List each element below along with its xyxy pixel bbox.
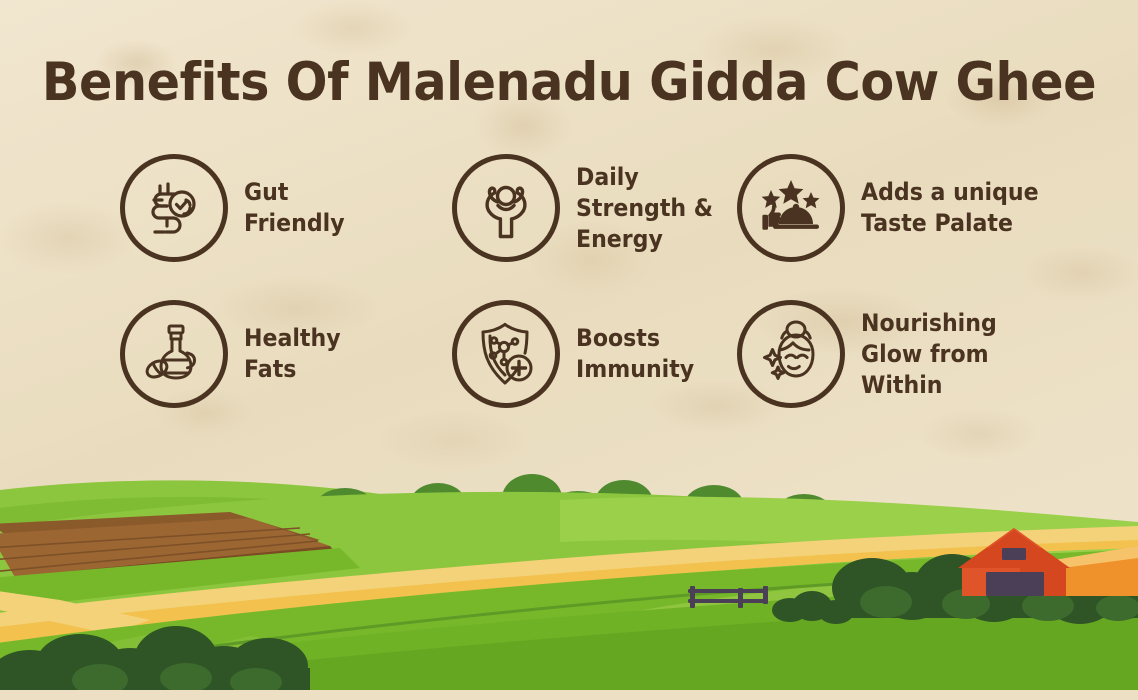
strong-person-icon <box>471 175 541 241</box>
benefit-item-healthy-fats[interactable]: Healthy Fats <box>120 300 349 408</box>
farm-landscape-illustration <box>0 468 1138 700</box>
benefit-item-boosts-immunity[interactable]: Boosts Immunity <box>452 300 704 408</box>
benefit-label: Boosts Immunity <box>576 323 694 385</box>
benefit-icon-badge <box>737 300 845 408</box>
benefit-icon-badge <box>120 300 228 408</box>
barn-loft-window <box>1002 548 1026 560</box>
thumbs-up-cloche-stars-icon <box>755 176 827 240</box>
bottom-border-strip <box>0 690 1138 700</box>
benefit-item-taste-palate[interactable]: Adds a unique Taste Palate <box>737 154 1054 262</box>
intestine-check-icon <box>140 174 208 242</box>
benefit-label: Adds a unique Taste Palate <box>861 177 1039 239</box>
benefit-icon-badge <box>452 300 560 408</box>
benefit-icon-badge <box>452 154 560 262</box>
infographic-poster: Benefits Of Malenadu Gidda Cow Ghee <box>0 0 1138 700</box>
woman-face-sparkle-icon <box>756 319 826 389</box>
benefit-label: Healthy Fats <box>244 323 341 385</box>
benefit-item-nourishing-glow[interactable]: Nourishing Glow from Within <box>737 300 1009 408</box>
benefit-icon-badge <box>737 154 845 262</box>
benefits-grid: Gut Friendly <box>0 148 1138 448</box>
barn-door <box>986 572 1044 596</box>
page-title: Benefits Of Malenadu Gidda Cow Ghee <box>40 52 1098 113</box>
benefit-label: Daily Strength & Energy <box>576 162 713 255</box>
benefit-icon-badge <box>120 154 228 262</box>
benefit-item-gut-friendly[interactable]: Gut Friendly <box>120 154 353 262</box>
shield-molecule-plus-icon <box>471 320 541 388</box>
benefit-label: Nourishing Glow from Within <box>861 308 997 401</box>
benefit-label: Gut Friendly <box>244 177 345 239</box>
oil-jug-olives-icon <box>140 321 208 387</box>
benefit-item-daily-strength[interactable]: Daily Strength & Energy <box>452 154 725 262</box>
